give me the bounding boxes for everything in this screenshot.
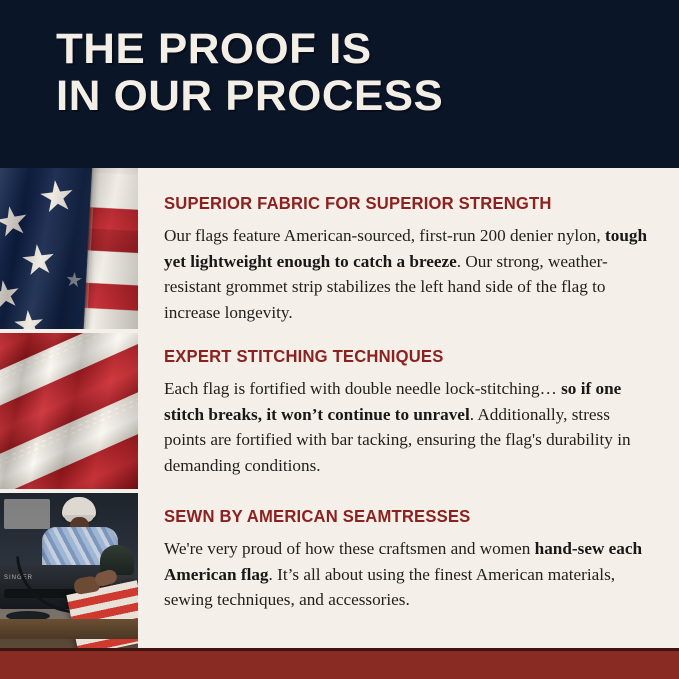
section-superior-fabric: SUPERIOR FABRIC FOR SUPERIOR STRENGTH Ou…	[164, 193, 654, 325]
sewing-workshop-scene: SINGER	[0, 493, 138, 650]
star-icon	[13, 309, 46, 329]
page-title: THE PROOF IS IN OUR PROCESS	[56, 26, 668, 120]
header-banner: THE PROOF IS IN OUR PROCESS	[0, 0, 679, 168]
infographic-page: THE PROOF IS IN OUR PROCESS	[0, 0, 679, 679]
wood-surface	[0, 333, 138, 489]
section-sewn-by-american-seamstresses: SEWN BY AMERICAN SEAMTRESSES We're very …	[164, 506, 654, 613]
star-icon	[65, 271, 83, 289]
star-icon	[0, 203, 31, 240]
section-body: We're very proud of how these craftsmen …	[164, 536, 648, 613]
photo-flag-stripes-stitching	[0, 333, 138, 489]
section-heading: SEWN BY AMERICAN SEAMTRESSES	[164, 506, 630, 526]
star-icon	[0, 278, 22, 312]
work-table-edge	[0, 619, 138, 639]
flag-canton-field	[0, 168, 138, 329]
photo-flag-canton-closeup	[0, 168, 138, 329]
worker-cap	[62, 497, 96, 519]
section-body: Each flag is fortified with double needl…	[164, 376, 648, 478]
content-column: SUPERIOR FABRIC FOR SUPERIOR STRENGTH Ou…	[138, 168, 679, 650]
section-heading: SUPERIOR FABRIC FOR SUPERIOR STRENGTH	[164, 193, 630, 213]
section-heading: EXPERT STITCHING TECHNIQUES	[164, 346, 630, 366]
background-sewing-machine	[4, 499, 50, 529]
star-icon	[20, 242, 56, 278]
photo-seamstress-sewing: SINGER	[0, 493, 138, 650]
bottom-bar	[0, 651, 679, 679]
page-title-line-2: IN OUR PROCESS	[56, 73, 668, 120]
page-title-line-1: THE PROOF IS	[56, 26, 668, 73]
section-expert-stitching: EXPERT STITCHING TECHNIQUES Each flag is…	[164, 346, 654, 478]
section-body: Our flags feature American-sourced, firs…	[164, 223, 648, 325]
photo-column: SINGER	[0, 168, 138, 650]
star-icon	[38, 178, 76, 216]
